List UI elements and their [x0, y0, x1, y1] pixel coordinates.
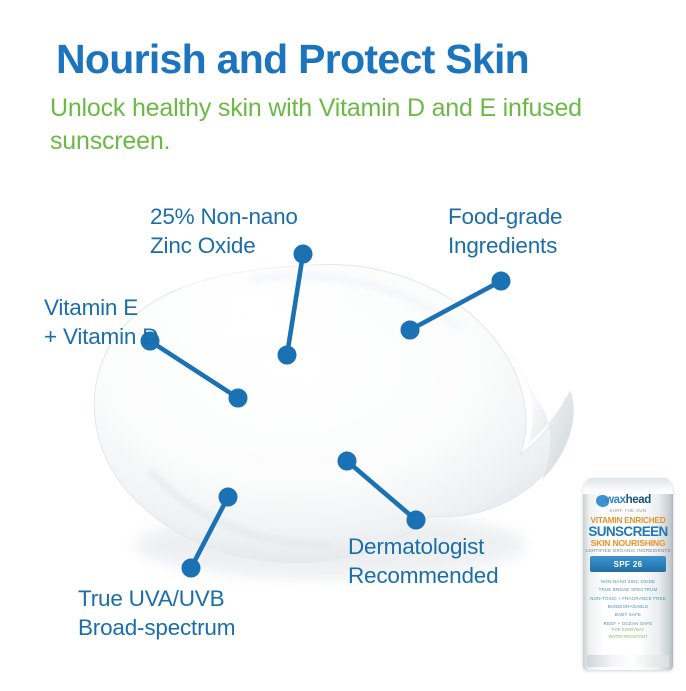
infographic-canvas: Nourish and Protect Skin Unlock healthy …	[0, 0, 686, 686]
callout-food-grade: Food-grade Ingredients	[448, 203, 562, 261]
brand-logo-head: head	[626, 494, 651, 506]
tube-footer-text: FOR EVERYDAY WATER RESISTANT	[583, 626, 673, 640]
callout-dermatologist: Dermatologist Recommended	[348, 533, 498, 591]
tube-body: waxhead SURF THE SUN VITAMIN ENRICHED SU…	[583, 478, 673, 670]
tube-claims-list: NON-NANO ZINC OXIDE TRUE BROAD SPECTRUM …	[583, 578, 673, 628]
brand-logo-wax: wax	[605, 494, 626, 506]
brand-logo: waxhead	[583, 494, 673, 506]
spf-badge: SPF 26	[590, 556, 666, 572]
tube-crimp	[587, 655, 669, 667]
tube-line-sunscreen: SUNSCREEN	[583, 524, 673, 539]
tube-shoulder	[583, 478, 673, 494]
callout-zinc-oxide: 25% Non-nano Zinc Oxide	[150, 203, 298, 261]
connector-food-grade	[403, 274, 508, 337]
callout-vitamins: Vitamin E + Vitamin D	[44, 294, 158, 352]
connector-broad-spectrum	[184, 490, 235, 575]
product-tube: waxhead SURF THE SUN VITAMIN ENRICHED SU…	[583, 478, 673, 670]
tube-line-skin-nourishing: SKIN NOURISHING	[583, 538, 673, 548]
brand-tagline: SURF THE SUN	[583, 508, 673, 513]
connector-dermatologist	[340, 454, 423, 527]
connector-zinc-oxide	[280, 247, 310, 362]
tube-line-certified-organic: CERTIFIED ORGANIC INGREDIENTS	[583, 548, 673, 553]
callout-broad-spectrum: True UVA/UVB Broad-spectrum	[78, 585, 235, 643]
